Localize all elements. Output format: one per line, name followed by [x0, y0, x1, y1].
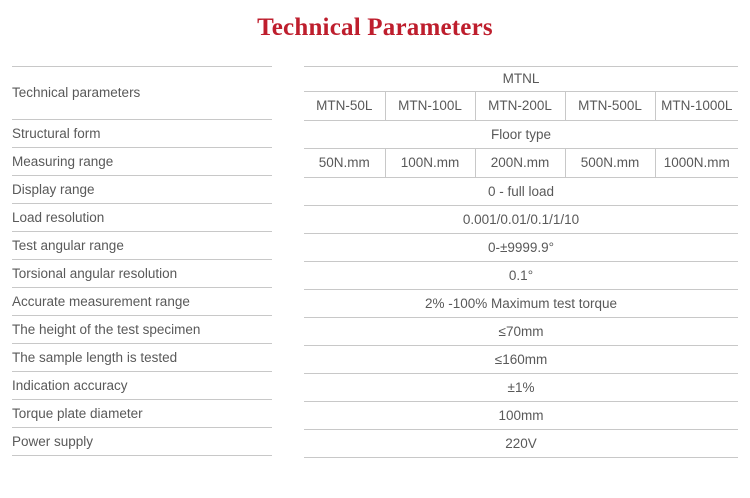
model-header-mtn-200l: MTN-200L [475, 92, 565, 121]
table-row: 2% -100% Maximum test torque [304, 290, 738, 318]
table-row: Accurate measurement range [12, 288, 272, 316]
row-label-torsional-angular-resolution: Torsional angular resolution [12, 260, 272, 288]
value-torque-plate-diameter: 100mm [304, 402, 738, 430]
table-row: Torque plate diameter [12, 400, 272, 428]
table-row: Measuring range [12, 148, 272, 176]
table-row: 0.001/0.01/0.1/1/10 [304, 206, 738, 234]
brand-series-header: MTNL [304, 67, 738, 92]
value-measuring-range-50: 50N.mm [304, 149, 385, 178]
table-row: The height of the test specimen [12, 316, 272, 344]
value-table: MTNL MTN-50L MTN-100L MTN-200L MTN-500L … [304, 66, 738, 458]
page-title: Technical Parameters [0, 14, 750, 42]
table-row-models: MTN-50L MTN-100L MTN-200L MTN-500L MTN-1… [304, 92, 738, 121]
table-row: 0-±9999.9° [304, 234, 738, 262]
table-row: 50N.mm 100N.mm 200N.mm 500N.mm 1000N.mm [304, 149, 738, 178]
value-test-angular-range: 0-±9999.9° [304, 234, 738, 262]
table-row: Power supply [12, 428, 272, 456]
table-row: The sample length is tested [12, 344, 272, 372]
row-label-test-angular-range: Test angular range [12, 232, 272, 260]
parameter-name-column: Technical parameters Structural form Mea… [12, 66, 272, 456]
row-label-power-supply: Power supply [12, 428, 272, 456]
parameter-column-header: Technical parameters [12, 67, 272, 120]
model-header-mtn-500l: MTN-500L [565, 92, 655, 121]
table-row: 100mm [304, 402, 738, 430]
table-row: Technical parameters [12, 67, 272, 120]
value-measuring-range-100: 100N.mm [385, 149, 475, 178]
row-label-sample-length: The sample length is tested [12, 344, 272, 372]
value-torsional-angular-resolution: 0.1° [304, 262, 738, 290]
table-row: Test angular range [12, 232, 272, 260]
row-label-load-resolution: Load resolution [12, 204, 272, 232]
table-row: Load resolution [12, 204, 272, 232]
table-row: 0 - full load [304, 178, 738, 206]
parameter-value-column: MTNL MTN-50L MTN-100L MTN-200L MTN-500L … [304, 66, 738, 458]
table-row: Structural form [12, 120, 272, 148]
table-row: Floor type [304, 121, 738, 149]
value-specimen-height: ≤70mm [304, 318, 738, 346]
value-power-supply: 220V [304, 430, 738, 458]
value-sample-length: ≤160mm [304, 346, 738, 374]
value-measuring-range-200: 200N.mm [475, 149, 565, 178]
table-row: 220V [304, 430, 738, 458]
parameter-table: Technical parameters Structural form Mea… [12, 66, 272, 456]
row-label-measuring-range: Measuring range [12, 148, 272, 176]
table-row-brand: MTNL [304, 67, 738, 92]
row-label-torque-plate-diameter: Torque plate diameter [12, 400, 272, 428]
row-label-indication-accuracy: Indication accuracy [12, 372, 272, 400]
row-label-structural-form: Structural form [12, 120, 272, 148]
row-label-accurate-measurement-range: Accurate measurement range [12, 288, 272, 316]
table-row: ±1% [304, 374, 738, 402]
row-label-display-range: Display range [12, 176, 272, 204]
value-measuring-range-500: 500N.mm [565, 149, 655, 178]
value-display-range: 0 - full load [304, 178, 738, 206]
model-header-mtn-50l: MTN-50L [304, 92, 385, 121]
model-header-mtn-100l: MTN-100L [385, 92, 475, 121]
value-structural-form: Floor type [304, 121, 738, 149]
table-row: Indication accuracy [12, 372, 272, 400]
value-accurate-measurement-range: 2% -100% Maximum test torque [304, 290, 738, 318]
table-row: ≤70mm [304, 318, 738, 346]
model-header-mtn-1000l: MTN-1000L [655, 92, 738, 121]
row-label-specimen-height: The height of the test specimen [12, 316, 272, 344]
value-load-resolution: 0.001/0.01/0.1/1/10 [304, 206, 738, 234]
table-row: ≤160mm [304, 346, 738, 374]
table-row: Display range [12, 176, 272, 204]
value-measuring-range-1000: 1000N.mm [655, 149, 738, 178]
table-row: 0.1° [304, 262, 738, 290]
value-indication-accuracy: ±1% [304, 374, 738, 402]
table-row: Torsional angular resolution [12, 260, 272, 288]
